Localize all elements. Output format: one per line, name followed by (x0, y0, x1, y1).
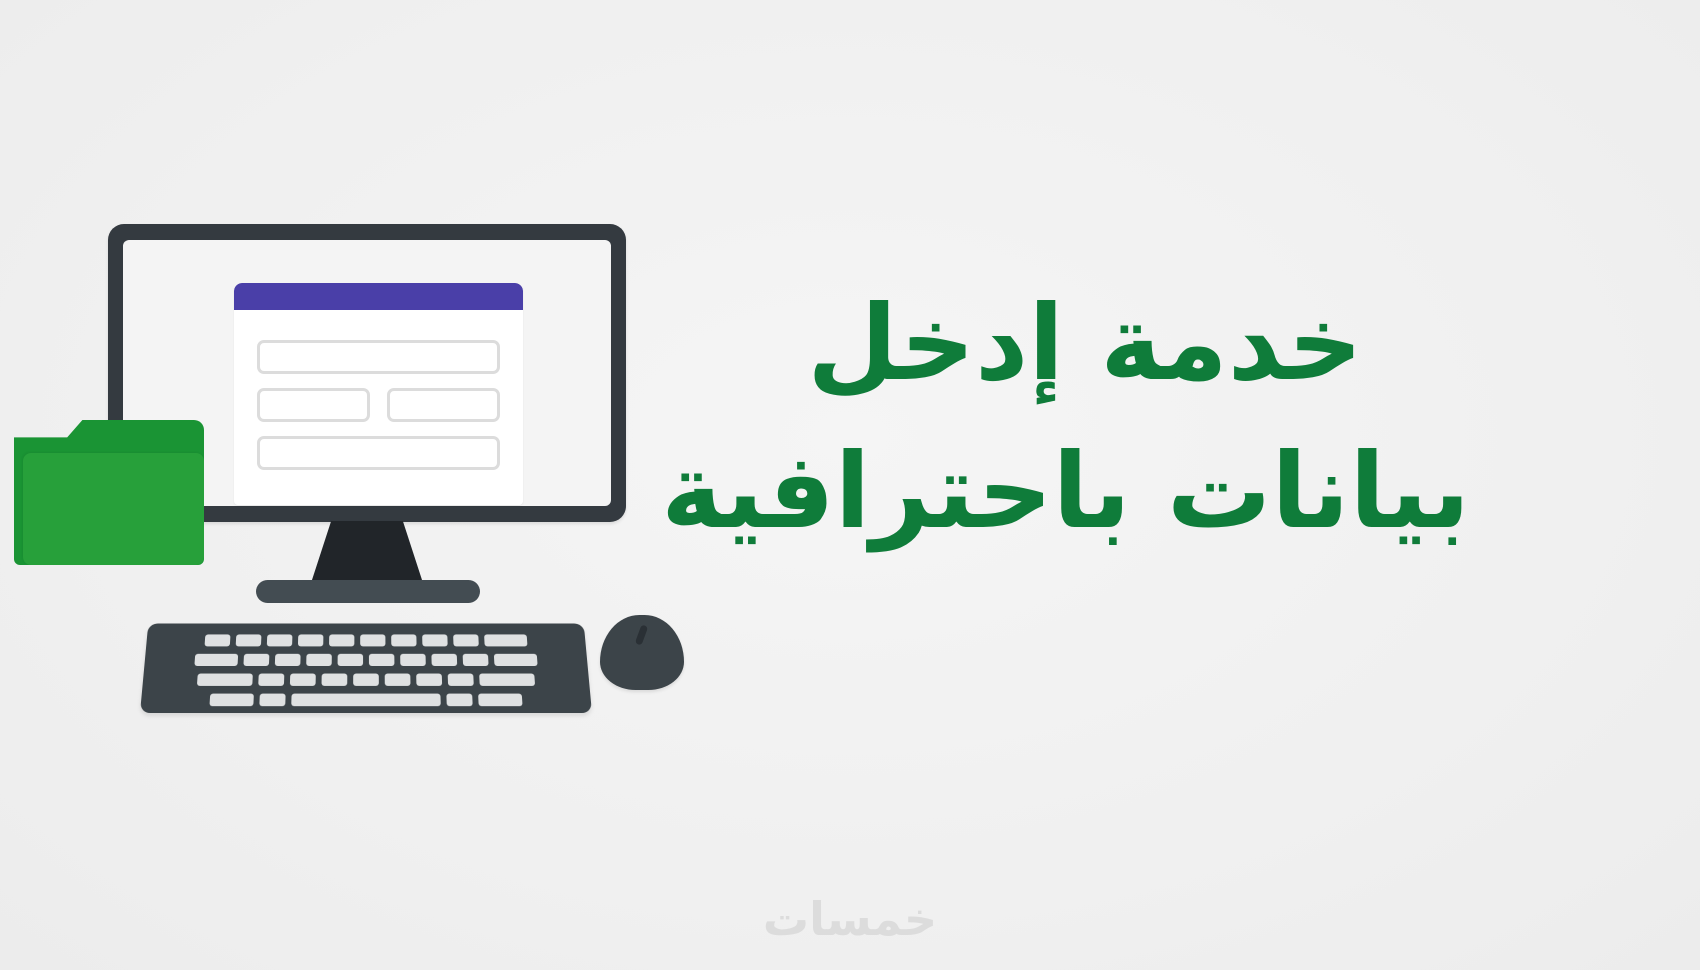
keyboard-key[interactable] (369, 654, 395, 666)
keyboard-key[interactable] (258, 674, 284, 686)
form-field-4[interactable] (257, 436, 500, 470)
mouse-scroll-wheel[interactable] (635, 624, 648, 645)
headline: خدمة إدخل بيانات باحترافية (700, 270, 1470, 565)
keyboard-key-wider[interactable] (197, 674, 253, 686)
keyboard-key-wider[interactable] (479, 674, 535, 686)
keyboard-key[interactable] (391, 634, 416, 646)
keyboard-key[interactable] (298, 634, 324, 646)
headline-line-2: بيانات باحترافية (700, 418, 1470, 566)
keyboard-key[interactable] (463, 654, 489, 666)
data-entry-form-card (234, 283, 523, 505)
keyboard-key-wide[interactable] (484, 634, 527, 646)
keyboard-key-wide[interactable] (194, 654, 238, 666)
keyboard-key[interactable] (329, 634, 354, 646)
keyboard-key[interactable] (446, 694, 472, 707)
keyboard-key-wide[interactable] (478, 694, 522, 707)
keyboard-key[interactable] (338, 654, 364, 666)
monitor-stand-base (256, 580, 480, 603)
keyboard-key[interactable] (453, 634, 479, 646)
keyboard-key[interactable] (306, 654, 332, 666)
keyboard-key[interactable] (236, 634, 262, 646)
keyboard-row-1 (146, 634, 586, 646)
keyboard-row-3 (143, 674, 590, 686)
keyboard-key[interactable] (360, 634, 385, 646)
mouse[interactable] (600, 615, 684, 690)
keyboard-key[interactable] (431, 654, 457, 666)
keyboard-key[interactable] (422, 634, 448, 646)
form-titlebar (234, 283, 523, 310)
keyboard-key-wide[interactable] (494, 654, 538, 666)
keyboard-row-4 (141, 694, 592, 707)
computer-illustration (0, 0, 760, 970)
folder-front-panel (23, 453, 204, 565)
monitor-stand-neck (311, 521, 423, 583)
poster-canvas: خدمة إدخل بيانات باحترافية خمسات (0, 0, 1700, 970)
form-field-3[interactable] (387, 388, 500, 422)
keyboard-key[interactable] (243, 654, 269, 666)
keyboard-key[interactable] (385, 674, 411, 686)
keyboard-key[interactable] (353, 674, 379, 686)
keyboard-key[interactable] (275, 654, 301, 666)
keyboard-key-wide[interactable] (209, 694, 253, 707)
keyboard-key[interactable] (259, 694, 285, 707)
keyboard-key[interactable] (448, 674, 474, 686)
keyboard-row-2 (144, 654, 587, 666)
keyboard-key[interactable] (205, 634, 231, 646)
keyboard-key-spacebar[interactable] (291, 694, 441, 707)
form-field-2[interactable] (257, 388, 370, 422)
folder-icon (14, 420, 204, 565)
form-field-1[interactable] (257, 340, 500, 374)
keyboard-key[interactable] (321, 674, 347, 686)
headline-line-1: خدمة إدخل (700, 270, 1470, 418)
keyboard[interactable] (140, 623, 592, 713)
keyboard-key[interactable] (416, 674, 442, 686)
keyboard-key[interactable] (400, 654, 426, 666)
keyboard-key[interactable] (290, 674, 316, 686)
watermark-khamsat: خمسات (0, 892, 1700, 946)
keyboard-key[interactable] (267, 634, 293, 646)
